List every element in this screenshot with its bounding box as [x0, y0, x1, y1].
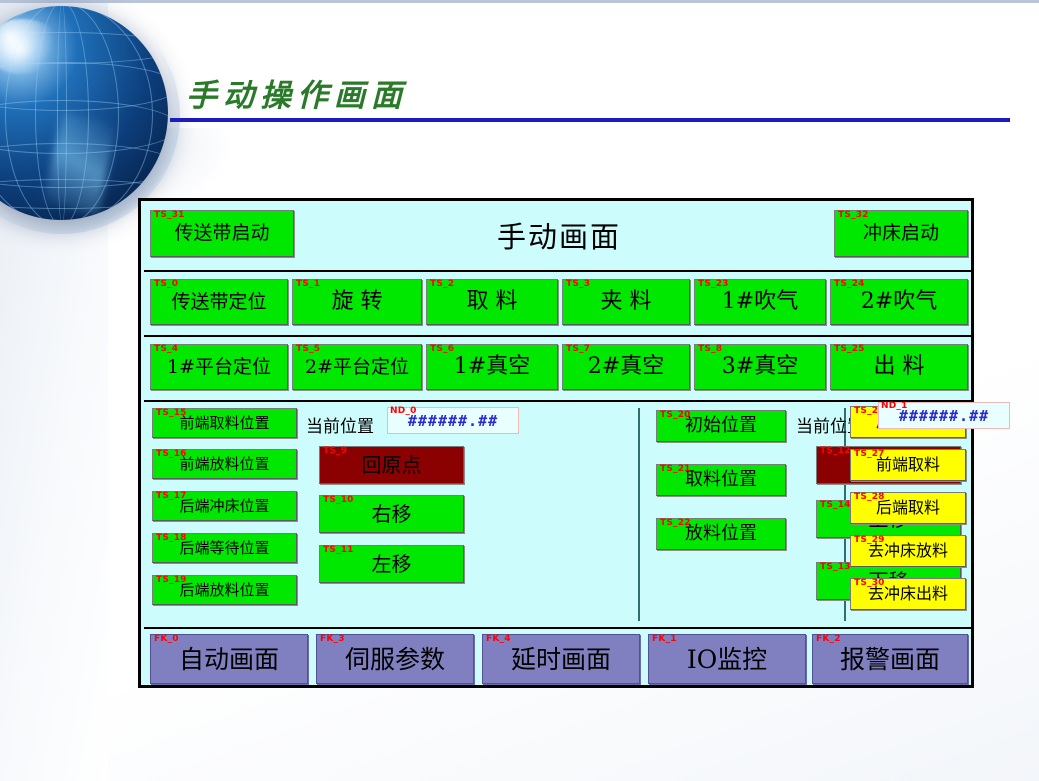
button-label: 前端取料	[876, 457, 940, 473]
right-col-button-1[interactable]: TS_27 前端取料	[850, 449, 966, 481]
right-col-button-3[interactable]: TS_29 去冲床放料	[850, 535, 966, 567]
row1-button-1[interactable]: TS_1 旋 转	[292, 279, 422, 325]
nav-button-delay-screen[interactable]: FK_4 延时画面	[482, 634, 640, 684]
button-label: 传送带启动	[174, 224, 269, 243]
tag-id: FK_3	[320, 635, 345, 644]
tag-id: TS_9	[323, 447, 347, 456]
row2-button-0[interactable]: TS_4 1#平台定位	[150, 344, 288, 390]
row1-button-4[interactable]: TS_23 1#吹气	[694, 279, 826, 325]
tag-id: TS_7	[566, 345, 590, 354]
button-label: 2#真空	[588, 356, 664, 378]
left-col-button-2[interactable]: TS_17 后端冲床位置	[152, 491, 297, 521]
button-label: 伺服参数	[345, 647, 445, 672]
button-label: 回原点	[362, 455, 422, 475]
button-label: 冲床启动	[863, 224, 939, 243]
button-label: 自动画面	[179, 647, 279, 672]
tag-id: TS_31	[154, 211, 185, 220]
button-label: 旋 转	[332, 291, 383, 313]
row1-button-2[interactable]: TS_2 取 料	[426, 279, 558, 325]
tag-id: TS_24	[834, 280, 865, 289]
button-label: 后端冲床位置	[179, 499, 269, 514]
tag-id: FK_1	[652, 635, 677, 644]
tag-id: TS_12	[820, 447, 851, 456]
button-label: 1#真空	[454, 356, 530, 378]
axis2-position-button-0[interactable]: TS_20 初始位置	[656, 410, 786, 442]
nav-button-alarm-screen[interactable]: FK_2 报警画面	[812, 634, 968, 684]
axis1-readout-box: ND_0 ######.##	[387, 407, 519, 434]
button-label: 3#真空	[722, 356, 798, 378]
column-divider	[638, 408, 640, 621]
button-label: 2#平台定位	[305, 358, 409, 377]
tag-id: TS_5	[296, 345, 320, 354]
row2-button-2[interactable]: TS_6 1#真空	[426, 344, 558, 390]
tag-id: TS_4	[154, 345, 178, 354]
right-col-button-2[interactable]: TS_28 后端取料	[850, 492, 966, 524]
nav-button-auto-screen[interactable]: FK_0 自动画面	[150, 634, 308, 684]
button-label: 取料位置	[685, 471, 757, 489]
button-label: 取 料	[467, 291, 518, 313]
tag-id: TS_25	[834, 345, 865, 354]
row1-button-0[interactable]: TS_0 传送带定位	[150, 279, 288, 325]
hmi-panel: 手动画面 TS_31 传送带启动 TS_32 冲床启动 TS_0 传送带定位 T…	[138, 198, 974, 688]
button-label: 去冲床放料	[868, 543, 948, 559]
tag-id: TS_3	[566, 280, 590, 289]
left-col-button-1[interactable]: TS_16 前端放料位置	[152, 449, 297, 479]
tag-id: FK_0	[154, 635, 179, 644]
button-label: 后端取料	[876, 500, 940, 516]
axis2-readout-box: ND_1 ######.##	[878, 402, 1010, 429]
title-underline	[170, 118, 1010, 122]
tag-id: TS_11	[323, 546, 354, 555]
button-label: 延时画面	[511, 647, 611, 672]
button-label: 放料位置	[685, 525, 757, 543]
axis1-move-left-button[interactable]: TS_11 左移	[319, 545, 464, 583]
tag-id: TS_6	[430, 345, 454, 354]
hmi-row-two: TS_4 1#平台定位 TS_5 2#平台定位 TS_6 1#真空 TS_7 2…	[144, 335, 974, 400]
axis1-move-right-button[interactable]: TS_10 右移	[319, 495, 464, 533]
row1-button-3[interactable]: TS_3 夹 料	[562, 279, 690, 325]
axis2-position-button-2[interactable]: TS_22 放料位置	[656, 518, 786, 550]
left-col-button-0[interactable]: TS_15 前端取料位置	[152, 408, 297, 438]
button-label: 前端放料位置	[179, 457, 269, 472]
button-label: 初始位置	[685, 417, 757, 435]
button-label: 出 料	[874, 356, 925, 378]
row2-button-4[interactable]: TS_8 3#真空	[694, 344, 826, 390]
button-label: 1#吹气	[722, 291, 798, 313]
tag-id: TS_10	[323, 496, 354, 505]
button-label: IO监控	[687, 647, 767, 672]
axis1-readout-value: ######.##	[408, 412, 498, 430]
button-label: 1#平台定位	[167, 358, 271, 377]
button-label: 左移	[372, 554, 412, 574]
globe-icon	[0, 6, 168, 220]
tag-id: TS_8	[698, 345, 722, 354]
nav-button-io-monitor[interactable]: FK_1 IO监控	[648, 634, 806, 684]
tag-id: TS_2	[430, 280, 454, 289]
button-label: 前端取料位置	[179, 416, 269, 431]
tag-id: FK_4	[486, 635, 511, 644]
hmi-header-band: 手动画面 TS_31 传送带启动 TS_32 冲床启动	[144, 204, 974, 266]
button-label: 2#吹气	[861, 291, 937, 313]
button-label: 夹 料	[601, 291, 652, 313]
press-start-button[interactable]: TS_32 冲床启动	[834, 210, 968, 257]
button-label: 后端放料位置	[179, 583, 269, 598]
axis2-position-button-1[interactable]: TS_21 取料位置	[656, 464, 786, 496]
nav-button-servo-params[interactable]: FK_3 伺服参数	[316, 634, 474, 684]
conveyor-start-button[interactable]: TS_31 传送带启动	[150, 210, 294, 257]
hmi-main-area: TS_15 前端取料位置 TS_16 前端放料位置 TS_17 后端冲床位置 T…	[144, 400, 974, 627]
tag-id: TS_14	[820, 501, 851, 510]
slide-top-rule	[0, 0, 1039, 3]
row2-button-3[interactable]: TS_7 2#真空	[562, 344, 690, 390]
right-col-button-4[interactable]: TS_30 去冲床出料	[850, 578, 966, 610]
left-col-button-3[interactable]: TS_18 后端等待位置	[152, 533, 297, 563]
button-label: 传送带定位	[171, 293, 266, 312]
tag-id: FK_2	[816, 635, 841, 644]
button-label: 右移	[372, 504, 412, 524]
axis1-readout-label: 当前位置	[306, 412, 374, 437]
axis2-readout-value: ######.##	[899, 407, 989, 425]
tag-id: TS_23	[698, 280, 729, 289]
tag-id: TS_1	[296, 280, 320, 289]
row2-button-1[interactable]: TS_5 2#平台定位	[292, 344, 422, 390]
tag-id: TS_0	[154, 280, 178, 289]
tag-id: TS_32	[838, 211, 869, 220]
page-title: 手动操作画面	[186, 70, 408, 115]
left-col-button-4[interactable]: TS_19 后端放料位置	[152, 575, 297, 605]
axis1-home-button[interactable]: TS_9 回原点	[319, 446, 464, 484]
hmi-row-one: TS_0 传送带定位 TS_1 旋 转 TS_2 取 料 TS_3 夹 料 TS…	[144, 270, 974, 335]
button-label: 报警画面	[840, 647, 940, 672]
hmi-nav-row: FK_0 自动画面 FK_3 伺服参数 FK_4 延时画面 FK_1 IO监控 …	[144, 627, 974, 690]
tag-id: TS_13	[820, 563, 851, 572]
button-label: 去冲床出料	[868, 586, 948, 602]
row2-button-5[interactable]: TS_25 出 料	[830, 344, 968, 390]
row1-button-5[interactable]: TS_24 2#吹气	[830, 279, 968, 325]
button-label: 后端等待位置	[179, 541, 269, 556]
